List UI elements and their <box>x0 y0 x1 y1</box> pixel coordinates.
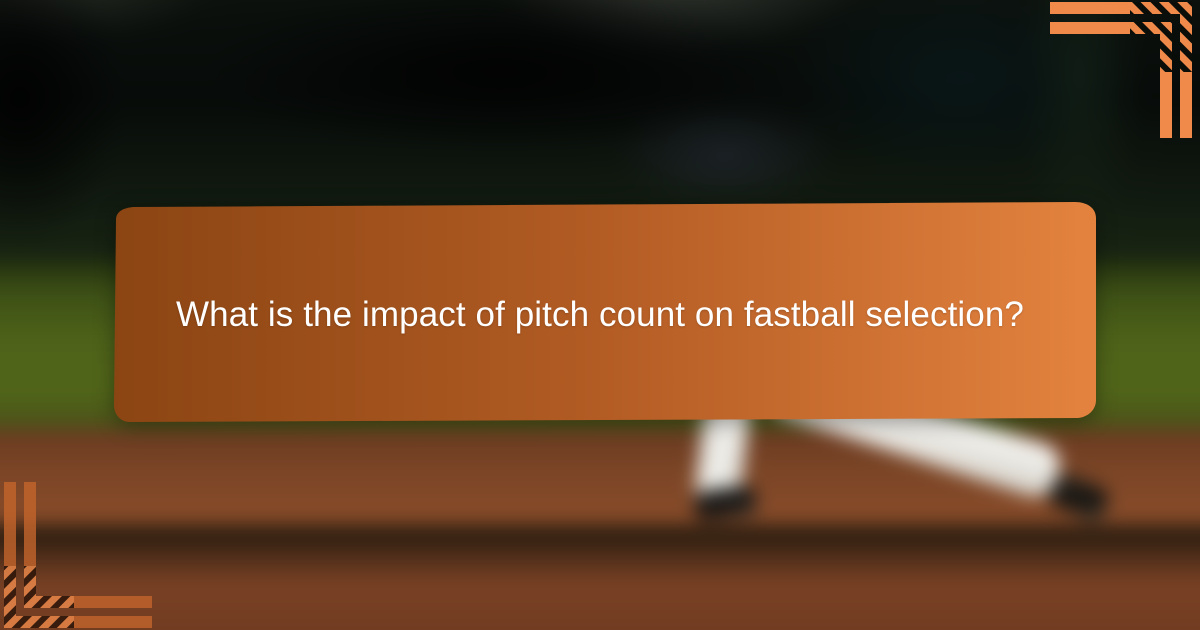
question-card: What is the impact of pitch count on fas… <box>100 200 1100 426</box>
question-text: What is the impact of pitch count on fas… <box>160 200 1040 426</box>
social-card-canvas: What is the impact of pitch count on fas… <box>0 0 1200 630</box>
pitcher-torso-shadow <box>610 100 840 210</box>
